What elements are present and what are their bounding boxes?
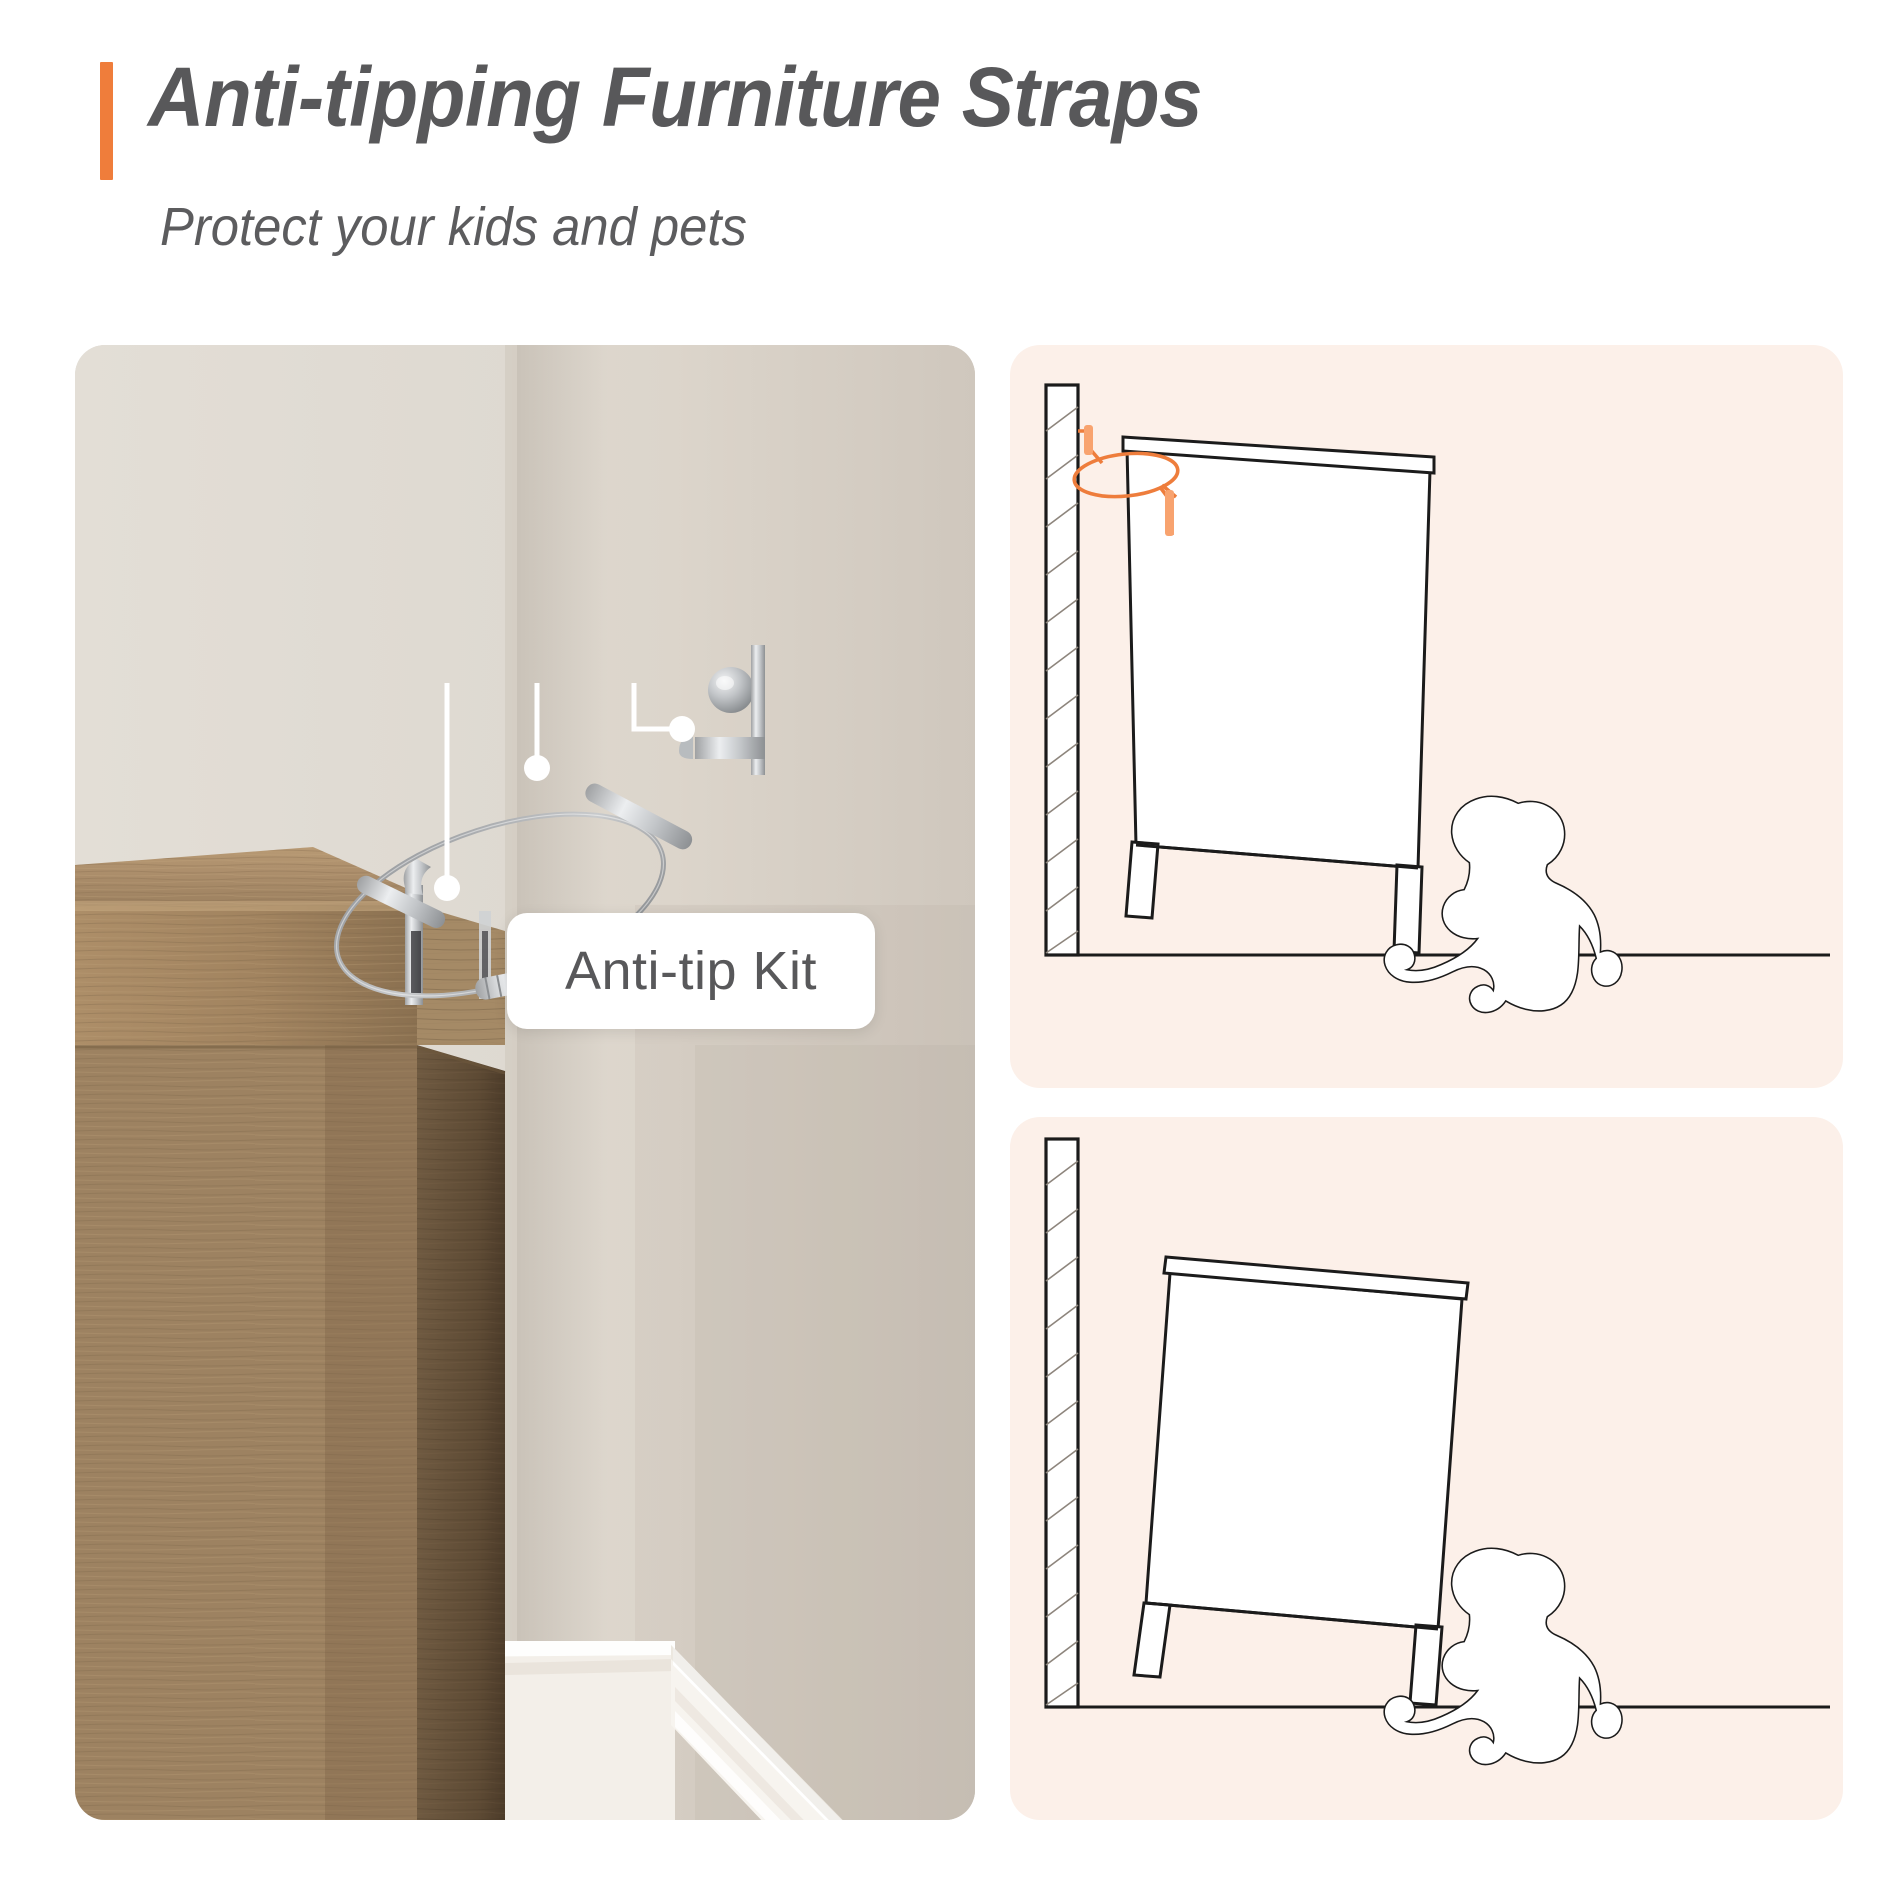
panel-incorrect-installation: [1010, 1117, 1843, 1820]
illustration-cabinet-secured: [1010, 345, 1843, 1088]
callout-leader-lines: [75, 345, 975, 1820]
panel-correct-installation: [1010, 345, 1843, 1088]
page-title: Anti-tipping Furniture Straps: [148, 52, 1202, 143]
illustration-cabinet-tipping: [1010, 1117, 1843, 1820]
callout-label-text: Anti-tip Kit: [565, 940, 817, 1002]
product-photo-panel: Anti-tip Kit: [75, 345, 975, 1820]
accent-bar: [100, 62, 113, 180]
page-header: Anti-tipping Furniture Straps Protect yo…: [0, 0, 1900, 330]
page-subtitle: Protect your kids and pets: [160, 196, 747, 258]
anti-tip-kit-callout-label: Anti-tip Kit: [507, 913, 875, 1029]
